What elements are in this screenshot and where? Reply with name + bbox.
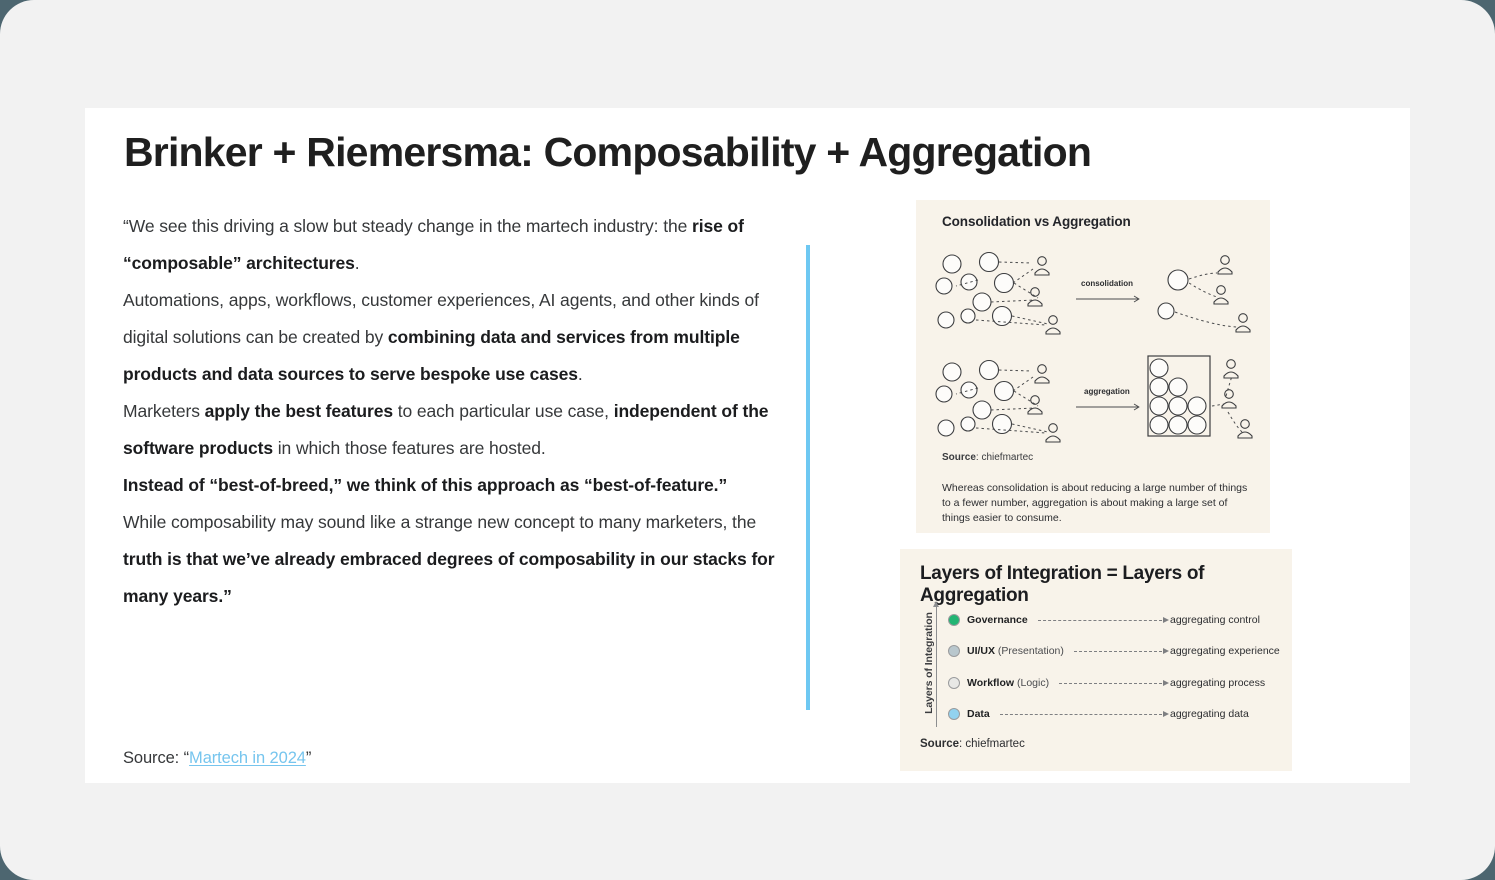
quote-paragraph: Marketers apply the best features to eac… bbox=[123, 393, 793, 467]
figure-two-source-value: : chiefmartec bbox=[959, 738, 1025, 750]
quote-text: to each particular use case, bbox=[393, 401, 614, 421]
figure-one-consolidation-panel: consolidation bbox=[916, 242, 1270, 342]
quote-paragraph: “We see this driving a slow but steady c… bbox=[123, 208, 793, 282]
figure-layers-of-integration[interactable]: Layers of Integration = Layers of Aggreg… bbox=[900, 549, 1292, 771]
quote-text: . bbox=[578, 364, 583, 384]
aggregation-diagram-svg: aggregation bbox=[916, 350, 1270, 450]
figure-two-axis-line bbox=[936, 605, 937, 727]
figure-one-source: Source: chiefmartec bbox=[942, 452, 1033, 463]
figure-two-axis-label: Layers of Integration bbox=[923, 608, 935, 718]
layer-row: Workflow (Logic) aggregating process bbox=[948, 673, 1288, 693]
layer-dot-icon bbox=[948, 708, 960, 720]
figure-two-axis-arrow-icon bbox=[933, 601, 939, 607]
layer-label: Data bbox=[967, 708, 990, 720]
layer-connector-arrow-icon bbox=[1000, 714, 1162, 715]
quote-emphasis: apply the best features bbox=[205, 401, 393, 421]
layer-outcome: aggregating data bbox=[1170, 708, 1288, 720]
figure-consolidation-vs-aggregation[interactable]: Consolidation vs Aggregation bbox=[916, 200, 1270, 533]
quote-text: in which those features are hosted. bbox=[273, 438, 546, 458]
layer-row: Governance aggregating control bbox=[948, 610, 1288, 630]
layer-connector-arrow-icon bbox=[1038, 620, 1162, 621]
layer-dot-icon bbox=[948, 645, 960, 657]
quote-paragraph: While composability may sound like a str… bbox=[123, 504, 793, 615]
vertical-accent-divider bbox=[806, 245, 810, 710]
layer-label: Workflow (Logic) bbox=[967, 677, 1049, 689]
slide-card: Brinker + Riemersma: Composability + Agg… bbox=[85, 108, 1410, 783]
figure-one-source-label: Source bbox=[942, 452, 976, 463]
page-title: Brinker + Riemersma: Composability + Agg… bbox=[124, 126, 1394, 178]
quote-text: While composability may sound like a str… bbox=[123, 512, 756, 532]
source-link[interactable]: Martech in 2024 bbox=[189, 749, 306, 767]
source-attribution: Source: “Martech in 2024” bbox=[123, 746, 311, 770]
quote-emphasis: Instead of “best-of-breed,” we think of … bbox=[123, 475, 727, 495]
layer-outcome: aggregating control bbox=[1170, 614, 1288, 626]
quote-paragraph: Automations, apps, workflows, customer e… bbox=[123, 282, 793, 393]
layer-row: UI/UX (Presentation) aggregating experie… bbox=[948, 641, 1288, 661]
layer-dot-icon bbox=[948, 677, 960, 689]
figure-two-title: Layers of Integration = Layers of Aggreg… bbox=[920, 563, 1292, 607]
figure-one-title: Consolidation vs Aggregation bbox=[942, 214, 1131, 229]
figure-one-caption: Whereas consolidation is about reducing … bbox=[942, 481, 1254, 526]
layer-connector-arrow-icon bbox=[1059, 683, 1162, 684]
quote-text: “We see this driving a slow but steady c… bbox=[123, 216, 692, 236]
layer-label: Governance bbox=[967, 614, 1028, 626]
aggregation-arrow-label: aggregation bbox=[1084, 387, 1130, 396]
quote-text: . bbox=[355, 253, 360, 273]
consolidation-arrow-label: consolidation bbox=[1081, 279, 1133, 288]
layer-outcome: aggregating experience bbox=[1170, 645, 1288, 657]
figure-two-source: Source: chiefmartec bbox=[920, 738, 1025, 750]
quote-text-column: “We see this driving a slow but steady c… bbox=[123, 208, 793, 615]
quote-paragraph: Instead of “best-of-breed,” we think of … bbox=[123, 467, 793, 504]
source-prefix: Source: “ bbox=[123, 749, 189, 767]
layer-connector-arrow-icon bbox=[1074, 651, 1162, 652]
layer-dot-icon bbox=[948, 614, 960, 626]
page-root: Brinker + Riemersma: Composability + Agg… bbox=[0, 0, 1495, 880]
layer-label: UI/UX (Presentation) bbox=[967, 645, 1064, 657]
layer-outcome: aggregating process bbox=[1170, 677, 1288, 689]
consolidation-diagram-svg: consolidation bbox=[916, 242, 1270, 342]
layer-row: Data aggregating data bbox=[948, 704, 1288, 724]
source-suffix: ” bbox=[306, 749, 311, 767]
figure-two-source-label: Source bbox=[920, 738, 959, 750]
figure-one-aggregation-panel: aggregation bbox=[916, 350, 1270, 450]
figure-one-source-value: : chiefmartec bbox=[976, 452, 1033, 463]
quote-emphasis: truth is that we’ve already embraced deg… bbox=[123, 549, 774, 606]
quote-text: Marketers bbox=[123, 401, 205, 421]
